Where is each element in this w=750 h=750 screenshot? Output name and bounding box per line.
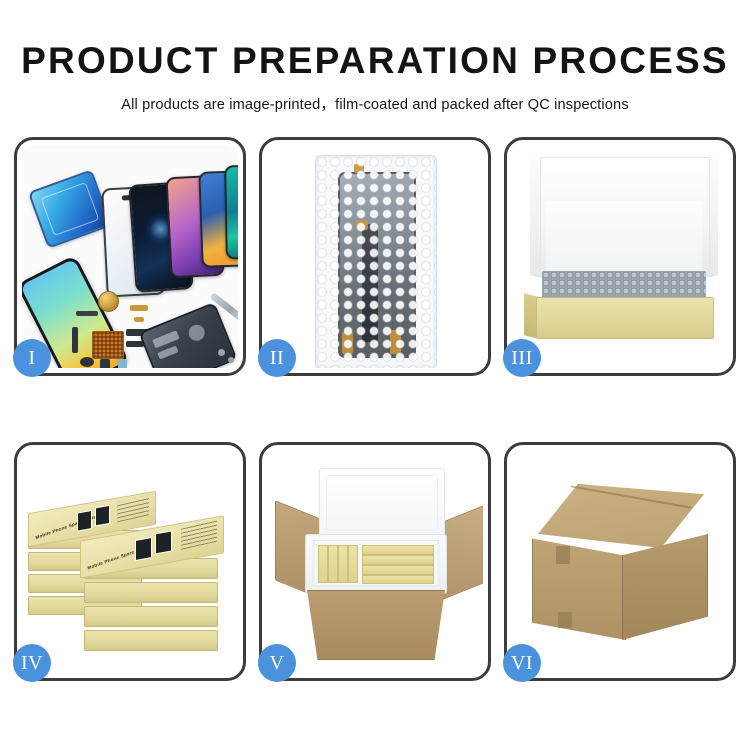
styrofoam-lid	[319, 468, 445, 538]
stacked-box-f2	[84, 582, 218, 603]
step-badge-5: V	[258, 644, 296, 682]
carton-tape-lower	[558, 612, 572, 628]
stacked-box-f3	[84, 606, 218, 627]
packed-box-2	[328, 545, 338, 583]
step-badge-1: I	[13, 339, 51, 377]
step-badge-3: III	[503, 339, 541, 377]
step-badge-6: VI	[503, 644, 541, 682]
panel-image-foambox	[512, 145, 728, 368]
carton-front-face	[532, 532, 626, 640]
carton-side-face	[622, 534, 708, 640]
packed-box-4	[348, 545, 358, 583]
packed-box-1	[318, 545, 328, 583]
process-steps-grid: I II	[14, 137, 736, 697]
small-part-3	[134, 317, 144, 322]
small-part-2	[130, 305, 148, 311]
packed-box-6	[362, 555, 434, 565]
tape-piece-3	[342, 332, 353, 354]
carton-tape-upper	[556, 546, 570, 564]
screw-part-1	[218, 349, 225, 356]
carton-front-wall	[301, 590, 451, 660]
panel-step-1: I	[14, 137, 246, 376]
screen-protector-film	[28, 169, 112, 249]
panel-step-2: II	[259, 137, 491, 376]
step-badge-4: IV	[13, 644, 51, 682]
screw-part-2	[228, 357, 234, 363]
tape-piece-4	[390, 330, 401, 354]
tape-piece-2	[356, 220, 368, 230]
page-title: PRODUCT PREPARATION PROCESS	[0, 42, 750, 79]
panel-step-3: III	[504, 137, 736, 376]
box-stack: Mobile Phone Spare Parts Mobile Phone Sp…	[28, 472, 238, 652]
panel-step-5: V	[259, 442, 491, 681]
yellow-box-front	[536, 297, 714, 339]
phone-teal-display	[224, 165, 238, 260]
styrofoam-cavity	[313, 540, 439, 586]
header: PRODUCT PREPARATION PROCESS All products…	[0, 0, 750, 114]
panel-image-parts	[22, 145, 238, 368]
product-preparation-infographic: PRODUCT PREPARATION PROCESS All products…	[0, 0, 750, 750]
copper-grid-part	[92, 331, 124, 359]
panel-image-bubblewrap	[267, 145, 483, 368]
flex-cable-1	[72, 327, 78, 353]
step-badge-2: II	[258, 339, 296, 377]
panel-image-sealed-carton	[512, 450, 728, 673]
box-artwork-phone-4	[155, 530, 172, 554]
phone-back-housing	[138, 302, 237, 368]
small-part-4	[80, 357, 94, 367]
panel-step-4: Mobile Phone Spare Parts Mobile Phone Sp…	[14, 442, 246, 681]
small-part-5	[100, 359, 110, 368]
wrapped-flex-cable	[362, 224, 378, 342]
tape-piece-1	[354, 164, 364, 173]
white-foam-sheet	[546, 201, 702, 275]
bubble-wrap-bag	[315, 155, 437, 368]
panel-image-stacked-boxes: Mobile Phone Spare Parts Mobile Phone Sp…	[22, 450, 238, 673]
page-subtitle: All products are image-printed，film-coat…	[0, 93, 750, 114]
small-part-6	[118, 359, 127, 368]
small-part-1	[76, 311, 98, 316]
box-artwork-phone-2	[95, 505, 110, 527]
stacked-box-f4	[84, 630, 218, 651]
packed-box-5	[362, 545, 434, 555]
panel-image-styrofoam-carton	[267, 450, 483, 673]
box-artwork-text-2	[181, 520, 217, 550]
panel-step-6: VI	[504, 442, 736, 681]
box-artwork-text-1	[117, 495, 149, 522]
packed-box-8	[362, 575, 434, 584]
packed-box-3	[338, 545, 348, 583]
packed-box-7	[362, 565, 434, 575]
speaker-coil-part	[98, 291, 119, 312]
box-artwork-phone-3	[135, 537, 152, 561]
box-artwork-phone-1	[77, 510, 92, 532]
